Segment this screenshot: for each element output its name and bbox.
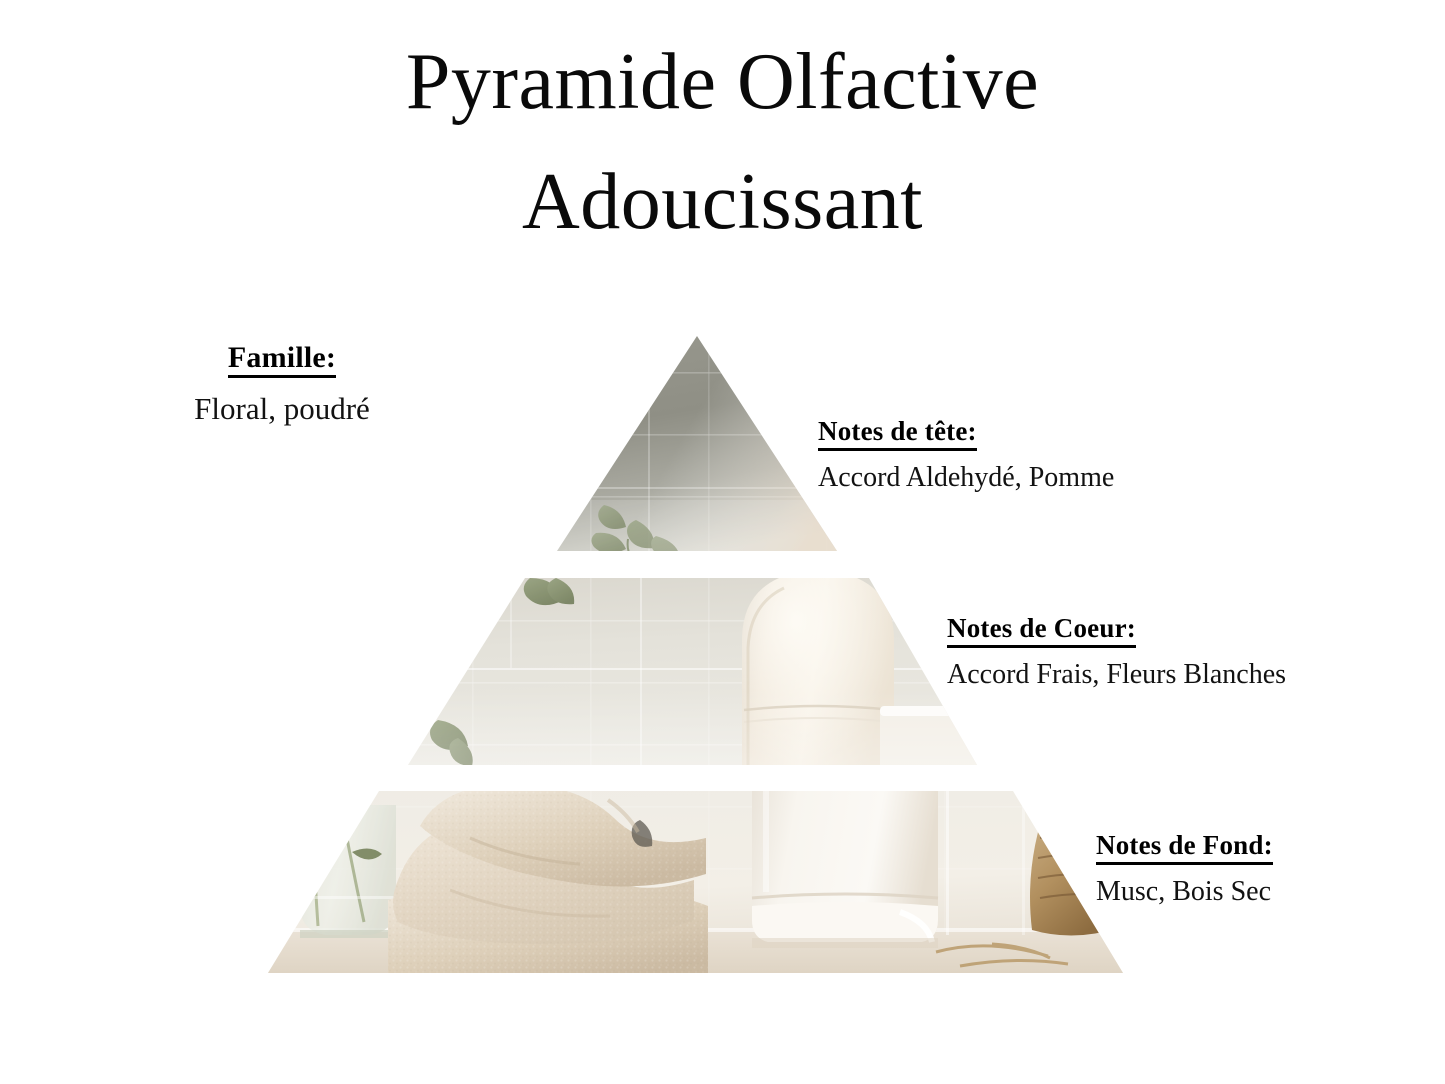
- pyramid-level-middle: [390, 570, 1000, 776]
- title-line-2: Adoucissant: [0, 142, 1445, 262]
- folded-towels: [388, 784, 708, 980]
- glass-vase: [300, 805, 396, 938]
- famille-callout: Famille: Floral, poudré: [112, 342, 452, 426]
- notes-de-coeur-heading: Notes de Coeur:: [947, 612, 1136, 648]
- notes-de-coeur-value: Accord Frais, Fleurs Blanches: [947, 658, 1286, 692]
- title-line-1: Pyramide Olfactive: [0, 22, 1445, 142]
- notes-de-coeur-callout: Notes de Coeur: Accord Frais, Fleurs Bla…: [947, 612, 1286, 692]
- famille-value: Floral, poudré: [112, 392, 452, 426]
- notes-de-fond-callout: Notes de Fond: Musc, Bois Sec: [1096, 829, 1273, 909]
- page-title: Pyramide Olfactive Adoucissant: [0, 22, 1445, 262]
- notes-de-fond-value: Musc, Bois Sec: [1096, 875, 1273, 909]
- notes-de-fond-heading: Notes de Fond:: [1096, 829, 1273, 865]
- eucalyptus-leaves-icon: [430, 578, 574, 766]
- dried-straw: [936, 944, 1068, 966]
- notes-de-tete-value: Accord Aldehydé, Pomme: [818, 461, 1114, 495]
- notes-de-tete-callout: Notes de tête: Accord Aldehydé, Pomme: [818, 415, 1114, 495]
- slide-canvas: Pyramide Olfactive Adoucissant: [0, 0, 1445, 1084]
- pyramid-level-bottom: [250, 784, 1150, 980]
- famille-heading: Famille:: [228, 342, 336, 378]
- ceramic-jar: [752, 785, 938, 948]
- notes-de-tete-heading: Notes de tête:: [818, 415, 977, 451]
- eucalyptus-sprig-icon: [591, 505, 680, 559]
